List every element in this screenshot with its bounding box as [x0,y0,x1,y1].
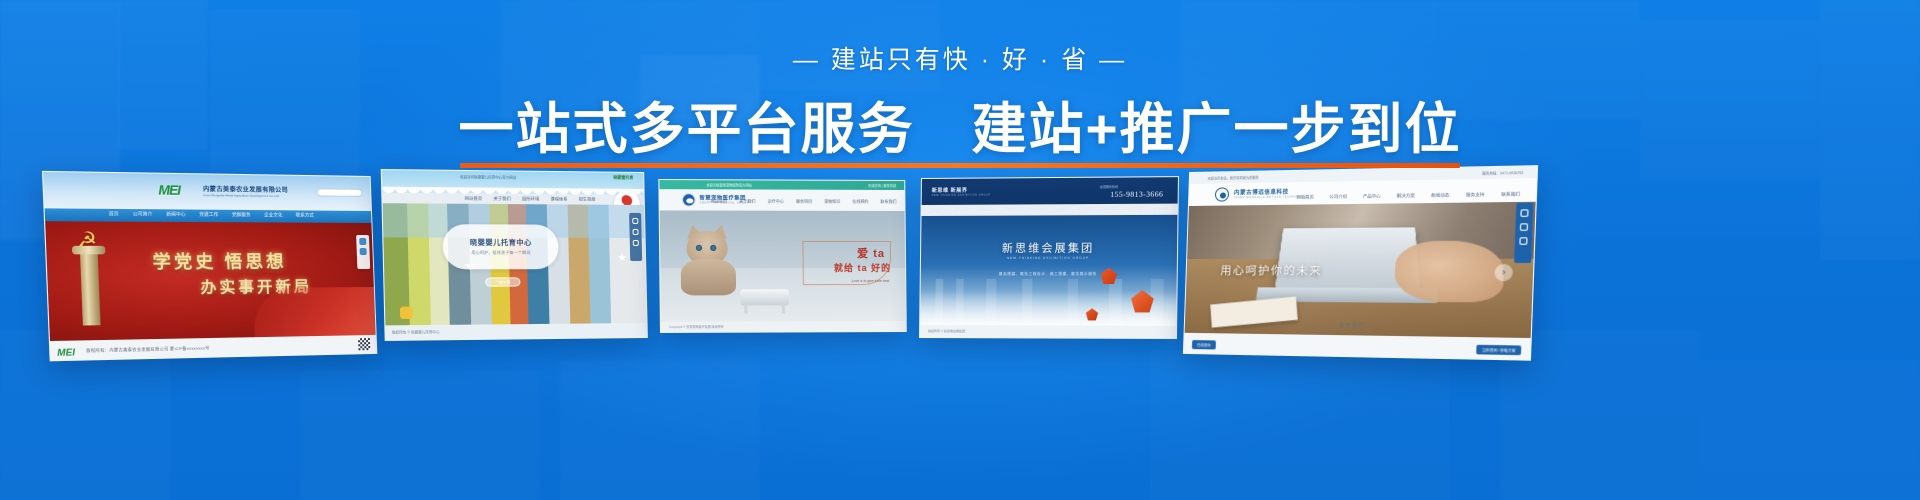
footer-copyright: Copyright © 智慧宠物医疗集团 版权所有 [669,325,724,329]
nav-item[interactable]: 招生简章 [579,196,596,202]
cta-button[interactable]: 了解详情 [485,277,520,286]
site-nav-bar[interactable]: 网站首页 公司介绍 产品中心 解决方案 新闻动态 服务支持 联系我们 [1296,191,1520,200]
banner-subtitle: — 建站只有快 · 好 · 省 — [0,48,1920,73]
nav-item[interactable]: 解决方案 [1397,193,1415,200]
nav-item[interactable]: 首页 [109,211,119,217]
nav-item[interactable]: 公司介绍 [1329,194,1347,200]
panda-logo-icon [682,193,695,206]
bubble-subtitle: 用心呵护，陪伴孩子每一个瞬间 [443,251,559,256]
phone-label: 全国服务热线 [1100,185,1119,189]
nav-item[interactable]: 园所环境 [522,196,539,202]
nav-item[interactable]: 联系我们 [1501,191,1520,198]
nav-item[interactable]: 新闻中心 [166,211,185,217]
showcase-item-pet-care[interactable]: 欢迎光临智慧宠物医院官方网站 在线咨询 | 服务热线 智慧宠物医疗集团 SMAR… [658,179,906,333]
hero-section: 新思维会展集团 NEW THINKING EXHIBITION GROUP 展会… [920,215,1177,326]
nav-item[interactable]: 宠物知识 [824,199,840,205]
site-header: 智慧宠物医疗集团 SMART PET MEDICAL GROUP 网站首页 关于… [659,189,904,211]
nav-item[interactable]: 行业资讯 [1053,207,1068,212]
nav-item[interactable]: 人才招聘 [1128,206,1143,211]
site-footer: 在线咨询 立即咨询 / 获取方案 [1184,333,1531,360]
showcase-item-future-care[interactable]: 欢迎访问本站，我们将竭诚为您服务 服务热线：0471-6930253 内蒙古博远… [1183,165,1538,361]
side-toolbar[interactable] [1514,203,1533,263]
hero-subtitle: 展会搭建、展览工程设计、施工搭建、展览展示服务 [921,272,1177,277]
nav-item[interactable]: 服务支持 [1466,192,1485,199]
site-brand: 晓婴童托育 [613,175,633,181]
hero-subtitle: Love is to give it the best [852,279,889,283]
nav-item[interactable]: 新闻动态 [1431,192,1450,199]
nav-item[interactable]: 网站首页 [1296,194,1314,200]
nav-item[interactable]: 课程体系 [550,196,567,202]
site-header: 新思维 新展界 NEW THINKING EXHIBITION GROUP 全国… [922,177,1178,205]
nav-item[interactable]: 设计团队 [1103,206,1118,211]
topbar-right-text: 服务热线：0471-6930253 [1482,170,1523,176]
hero-line-2: 就给 ta 好的 [834,261,891,274]
bubble-title: 晓婴婴儿托育中心 [443,238,559,248]
monument-icon [80,251,101,325]
site-nav-bar[interactable]: 网站首页 关于我们 诊疗中心 服务项目 宠物知识 在线预约 联系我们 [711,198,897,205]
topbar-left-text: 欢迎光临智慧宠物医院官方网站 [706,182,751,187]
nav-item[interactable]: 在线预约 [852,199,868,205]
banner-title-row: 一站式多平台服务 建站+推广一步到位 [458,99,1461,161]
nav-item[interactable]: 关于我们 [493,196,510,202]
header-welcome-text: 欢迎访问晓婴婴儿托育中心官方网站 [460,174,516,180]
nav-item[interactable]: 党建工作 [199,212,218,218]
site-nav-bar[interactable]: 网站首页 关于我们 园所环境 课程体系 招生简章 [465,196,596,203]
ribbon-decoration [253,287,376,337]
headline-block: — 建站只有快 · 好 · 省 — 一站式多平台服务 建站+推广一步到位 [0,48,1920,161]
nav-item[interactable]: 企业文化 [264,212,283,218]
hero-line-1: 学党史 悟思想 [152,247,287,273]
hero-photo: 用心呵护你的未来 › [1185,202,1536,338]
hero-line-1: 爱 ta [857,245,885,261]
nav-item[interactable]: 网站首页 [711,198,727,204]
site-search-input[interactable] [316,188,362,197]
nav-item[interactable]: 服务项目 [796,199,812,205]
qr-code-icon [358,338,370,350]
nav-item[interactable]: 产品中心 [1363,193,1381,199]
site-footer: 版权所有 © 晓婴婴儿托育中心 [385,323,646,340]
topbar-left-text: 欢迎访问本站，我们将竭诚为您服务 [1208,175,1259,181]
site-footer: 版权所有 © 新思维会展集团 [920,325,1176,338]
phone-number: 155-9813-3666 [1110,189,1163,198]
hero-banner: — 建站只有快 · 好 · 省 — 一站式多平台服务 建站+推广一步到位 MEI… [0,0,1920,500]
site-logo-mark: MEI [158,182,180,198]
hero-title: 用心呵护你的未来 [1220,262,1322,278]
site-company-name: 内蒙古美泰农业发展有限公司 Inner Mongolia Meitai Agri… [203,184,288,198]
consult-button[interactable]: 在线咨询 [1192,340,1216,349]
hero-photo: 爱 ta 就给 ta 好的 Love is to give it the bes… [660,210,906,321]
page-title: 一站式多平台服务 建站+推广一步到位 [458,99,1461,161]
badge-icon [400,307,413,319]
polygon-decoration [1101,268,1118,284]
nav-item[interactable]: 党群服务 [232,212,251,218]
footer-logo: MEI [57,347,75,358]
nav-item[interactable]: 关于我们 [739,199,755,205]
nav-item[interactable]: 关于我们 [955,207,969,212]
nav-item[interactable]: 网站首页 [465,196,483,202]
site-hero: ☭ 学党史 悟思想 办实事开新局 [45,221,376,341]
nav-item[interactable]: 联系我们 [880,199,896,205]
nav-item[interactable]: 合作案例 [1029,207,1044,212]
hero-title-en: NEW THINKING EXHIBITION GROUP [921,256,1177,260]
site-brand: 新思维 新展界 NEW THINKING EXHIBITION GROUP [932,187,991,197]
get-plan-button[interactable]: 立即咨询 / 获取方案 [1476,345,1521,355]
topbar-right-text: 在线咨询 | 服务热线 [868,183,896,188]
side-toolbar[interactable] [629,213,642,261]
nav-item[interactable]: 网站首页 [931,207,945,212]
nav-item[interactable]: 联系方式 [296,212,314,218]
hero-speech-bubble: 晓婴婴儿托育中心 用心呵护，陪伴孩子每一个瞬间 [442,224,559,269]
title-underline [460,163,1459,168]
showcase-item-party-history[interactable]: MEI 内蒙古美泰农业发展有限公司 Inner Mongolia Meitai … [42,171,377,361]
footer-copyright: 版权所有 © 晓婴婴儿托育中心 [392,329,440,335]
pet-bowl-icon [740,289,789,305]
showcase-item-kindergarten[interactable]: 欢迎访问晓婴婴儿托育中心官方网站 晓婴童托育 网站首页 关于我们 园所环境 课程… [381,169,648,341]
hero-title: 新思维会展集团 [921,239,1177,256]
nav-item[interactable]: 服务项目 [980,207,995,212]
hands-illustration [1394,240,1504,302]
side-toolbar[interactable] [356,235,370,269]
cat-illustration [678,231,738,294]
footer-copyright: 版权所有 © 新思维会展集团 [928,329,965,333]
nav-item[interactable]: 展馆展台 [1078,207,1093,212]
nav-item[interactable]: 专业工厂 [1004,207,1019,212]
star-icon: ★ [617,251,627,264]
footer-copyright: 版权所有：内蒙古美泰农业发展有限公司 蒙ICP备xxxxxxxx号 [86,345,210,354]
site-footer: Copyright © 智慧宠物医疗集团 版权所有 [661,321,906,332]
circle-logo-icon [1215,187,1229,201]
nav-item[interactable]: 公司简介 [133,211,153,217]
nav-item[interactable]: 联系我们 [1153,206,1168,211]
nav-item[interactable]: 诊疗中心 [768,199,784,205]
showcase-item-exhibition-group[interactable]: 新思维 新展界 NEW THINKING EXHIBITION GROUP 全国… [919,176,1179,339]
